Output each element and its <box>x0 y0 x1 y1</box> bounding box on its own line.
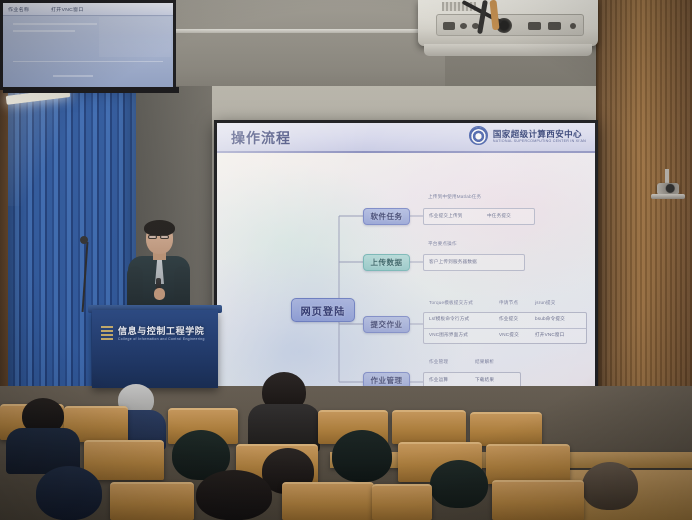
ceiling-trim <box>168 29 446 33</box>
seat-back-5 <box>392 410 466 444</box>
monitor-bezel <box>3 87 179 93</box>
branch2-header: 平台要点操作 <box>428 241 457 247</box>
logo-english-name: NATIONAL SUPERCOMPUTING CENTER IN XI'AN <box>493 139 586 143</box>
attendee-head-7 <box>36 466 102 520</box>
podium <box>92 310 218 388</box>
mindmap-root-node[interactable]: 网页登陆 <box>291 298 355 322</box>
branch3-header-cell3: jsrun提交 <box>535 300 556 306</box>
confidence-monitor: 作业名称 打开VNC窗口 <box>0 0 176 90</box>
attendee-head-10 <box>582 462 638 510</box>
center-logo: 国家超级计算西安中心 NATIONAL SUPERCOMPUTING CENTE… <box>469 126 586 145</box>
projector-port-lan <box>548 22 561 30</box>
attendee-head-9 <box>430 460 488 508</box>
confidence-monitor-screen: 作业名称 打开VNC窗口 <box>3 3 173 87</box>
branch3-row1-cell3: bsub命令提交 <box>535 316 565 322</box>
projector-port-vga <box>443 22 455 30</box>
branch3-row1-cell2: 作业提交 <box>499 316 518 322</box>
camera-bracket <box>651 194 685 199</box>
slide-title: 操作流程 <box>231 128 291 148</box>
logo-text-block: 国家超级计算西安中心 NATIONAL SUPERCOMPUTING CENTE… <box>493 129 586 143</box>
supercomputing-center-emblem-icon <box>469 126 488 145</box>
presenter-glasses-right <box>160 235 169 239</box>
seat-back-6 <box>470 412 542 446</box>
monitor-panel-block <box>99 17 171 57</box>
mindmap-branch-software-task[interactable]: 软件任务 <box>363 208 410 225</box>
podium-logo-icon <box>101 326 113 342</box>
podium-chinese-label: 信息与控制工程学院 <box>118 324 204 337</box>
branch3-header-cell2: 申请节点 <box>499 300 518 306</box>
branch4-header-cell1: 作业管理 <box>429 359 448 365</box>
projection-screen: 操作流程 国家超级计算西安中心 NATIONAL SUPERCOMPUTING … <box>217 123 595 415</box>
branch2-row1-cell1: 客户上传到服务器数据 <box>429 259 477 265</box>
branch3-row2-cell2: VNC提交 <box>499 332 519 338</box>
presenter <box>128 222 190 314</box>
branch1-row1-cell1: 作业提交上传到 <box>429 213 463 219</box>
presentation-slide: 操作流程 国家超级计算西安中心 NATIONAL SUPERCOMPUTING … <box>217 123 595 415</box>
seat-mid-1 <box>84 440 164 480</box>
mindmap-branch-upload-data[interactable]: 上传数据 <box>363 254 410 271</box>
branch3-row-divider <box>424 328 586 329</box>
presenter-glasses-left <box>148 235 157 239</box>
monitor-line-4 <box>53 75 93 77</box>
monitor-line-3 <box>13 61 163 62</box>
lecture-hall-scene: 作业名称 打开VNC窗口 操作流程 国家超级计算西安中心 NATIONAL SU… <box>0 0 692 520</box>
presenter-hand <box>154 288 165 300</box>
presenter-hair <box>144 220 175 236</box>
seat-front-3 <box>372 484 432 520</box>
branch4-row1-cell1: 作业运算 <box>429 377 448 383</box>
branch3-row1-cell1: Lsf模板命令行方式 <box>429 316 469 322</box>
seat-mid-4 <box>486 444 570 484</box>
monitor-text-left: 作业名称 <box>8 6 29 12</box>
podium-english-label: College of Information and Control Engin… <box>118 337 205 341</box>
logo-chinese-name: 国家超级计算西安中心 <box>493 129 586 139</box>
branch1-header: 上传到中使用Matlab任务 <box>428 194 481 200</box>
wall-mounted-camera <box>655 183 683 199</box>
monitor-line-2 <box>13 30 75 32</box>
mindmap-branch-submit-job[interactable]: 提交作业 <box>363 316 410 333</box>
branch4-header-cell2: 结果解析 <box>475 359 494 365</box>
microphone-head <box>80 236 88 244</box>
branch3-header-cell1: Torque模板提交方式 <box>429 300 473 306</box>
branch3-row2-cell3: 打开VNC窗口 <box>535 332 564 338</box>
projector-port-hdmi <box>528 22 541 30</box>
branch3-row2-cell1: VNC图形界面方式 <box>429 332 468 338</box>
attendee-head-8 <box>196 470 272 520</box>
seat-front-4 <box>492 480 584 520</box>
seat-front-1 <box>110 482 194 520</box>
projector-port-audio <box>460 23 467 29</box>
projector-port-power <box>570 23 576 29</box>
projector-housing-base <box>424 44 592 56</box>
blinds-daylight-glow <box>8 86 60 206</box>
branch1-row1-cell2: 中任务提交 <box>487 213 511 219</box>
attendee-head-5 <box>332 430 392 482</box>
branch4-row1-cell2: 下载结果 <box>475 377 494 383</box>
monitor-text-right: 打开VNC窗口 <box>51 6 84 12</box>
monitor-line-1 <box>13 23 97 25</box>
seat-front-2 <box>282 482 374 520</box>
